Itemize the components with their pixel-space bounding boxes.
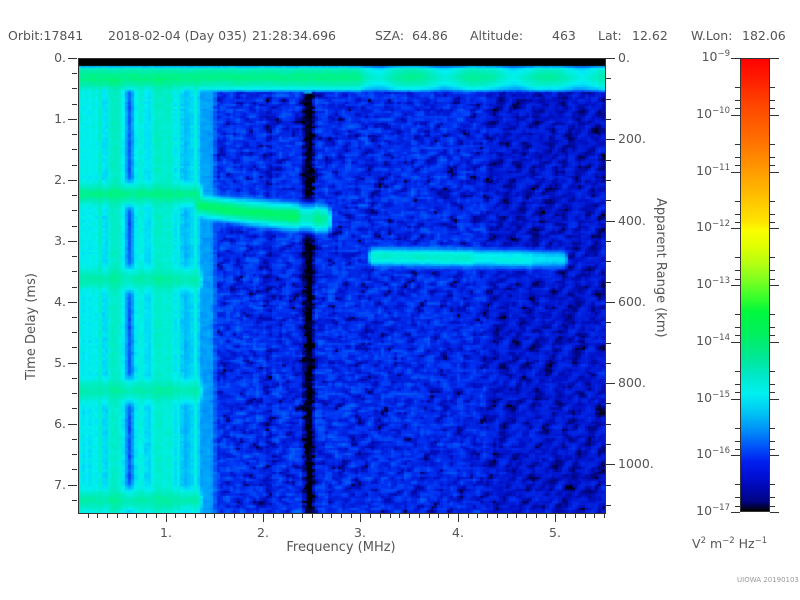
x-tick <box>302 513 303 518</box>
x-tick <box>253 513 254 518</box>
y-left-tick <box>68 58 77 59</box>
x-tick-label: 4. <box>448 525 468 540</box>
observation-time: 21:28:34.696 <box>252 28 336 43</box>
y-left-tick <box>72 454 77 455</box>
x-axis-title: Frequency (MHz) <box>0 540 682 555</box>
observation-date: 2018-02-04 (Day 035) <box>108 28 247 43</box>
colorbar-minor-tick <box>770 214 775 215</box>
x-tick <box>283 513 284 518</box>
x-tick <box>565 513 566 518</box>
colorbar-minor-tick <box>735 497 740 498</box>
x-tick <box>351 513 352 518</box>
colorbar-minor-tick <box>735 506 740 507</box>
y-right-tick <box>606 160 611 161</box>
colorbar-tick <box>731 228 740 229</box>
x-tick <box>409 513 410 518</box>
ionogram-heatmap <box>79 59 605 513</box>
y-left-tick-label: 2. <box>32 172 66 187</box>
x-tick <box>97 513 98 518</box>
y-left-tick-label: 3. <box>32 233 66 248</box>
y-right-tick <box>606 363 611 364</box>
colorbar-tick-label: 10−15 <box>678 390 730 405</box>
colorbar-tick <box>770 285 779 286</box>
y-left-tick <box>72 195 77 196</box>
y-left-tick <box>72 271 77 272</box>
colorbar-tick <box>770 228 779 229</box>
colorbar-tick <box>731 342 740 343</box>
x-tick <box>419 513 420 518</box>
colorbar-tick-label: 10−9 <box>678 49 730 64</box>
colorbar-minor-tick <box>735 428 740 429</box>
y-left-tick <box>72 347 77 348</box>
colorbar-tick-label: 10−11 <box>678 163 730 178</box>
colorbar-minor-tick <box>770 441 775 442</box>
x-tick <box>497 513 498 518</box>
colorbar-tick <box>770 342 779 343</box>
x-tick <box>205 513 206 518</box>
colorbar-minor-tick <box>735 441 740 442</box>
colorbar-minor-tick <box>770 392 775 393</box>
y-right-tick <box>606 241 611 242</box>
colorbar-minor-tick <box>735 327 740 328</box>
y-right-tick <box>606 444 611 445</box>
colorbar-minor-tick <box>735 201 740 202</box>
x-tick <box>526 513 527 518</box>
x-tick <box>156 513 157 518</box>
sza-label: SZA: <box>375 28 404 43</box>
y-left-tick <box>72 408 77 409</box>
colorbar-tick <box>731 58 740 59</box>
y-left-tick-label: 6. <box>32 416 66 431</box>
colorbar-minor-tick <box>770 257 775 258</box>
colorbar-minor-tick <box>770 314 775 315</box>
x-tick <box>195 513 196 518</box>
colorbar-tick <box>731 172 740 173</box>
colorbar-minor-tick <box>735 314 740 315</box>
colorbar-minor-tick <box>735 371 740 372</box>
y-left-tick <box>72 88 77 89</box>
colorbar-units-label: V2 m−2 Hz−1 <box>692 536 767 551</box>
colorbar-minor-tick <box>770 327 775 328</box>
colorbar-tick <box>770 455 779 456</box>
y-left-tick <box>72 469 77 470</box>
y-right-tick <box>606 221 615 222</box>
colorbar-minor-tick <box>735 222 740 223</box>
y-right-tick-label: 200. <box>618 131 674 146</box>
y-left-tick <box>72 287 77 288</box>
x-tick <box>507 513 508 518</box>
colorbar-tick <box>770 58 779 59</box>
x-tick <box>536 513 537 518</box>
y-left-tick <box>72 104 77 105</box>
y-left-tick <box>72 500 77 501</box>
colorbar-tick-label: 10−16 <box>678 446 730 461</box>
x-tick <box>88 513 89 518</box>
colorbar-minor-tick <box>770 428 775 429</box>
y-left-tick <box>72 393 77 394</box>
y-right-tick <box>606 282 611 283</box>
colorbar-minor-tick <box>770 484 775 485</box>
wlon-label: W.Lon: <box>691 28 732 43</box>
altitude-value: 463 <box>552 28 576 43</box>
y-right-tick-label: 800. <box>618 375 674 390</box>
x-tick-label: 3. <box>350 525 370 540</box>
colorbar-tick-label: 10−17 <box>678 503 730 518</box>
x-tick <box>136 513 137 518</box>
colorbar-tick <box>731 115 740 116</box>
y-right-tick <box>606 78 611 79</box>
x-tick <box>234 513 235 518</box>
colorbar-minor-tick <box>735 157 740 158</box>
y-right-tick <box>606 261 611 262</box>
colorbar-minor-tick <box>735 279 740 280</box>
x-tick <box>380 513 381 518</box>
spectrogram-panel <box>78 58 606 514</box>
x-tick <box>214 513 215 518</box>
y-left-tick <box>68 180 77 181</box>
y-right-tick <box>606 322 611 323</box>
y-left-tick-label: 7. <box>32 477 66 492</box>
x-tick <box>175 513 176 518</box>
colorbar-tick <box>770 115 779 116</box>
x-tick <box>341 513 342 518</box>
colorbar-gradient <box>740 58 770 512</box>
x-tick <box>575 513 576 518</box>
colorbar-minor-tick <box>770 335 775 336</box>
x-tick <box>312 513 313 518</box>
lat-value: 12.62 <box>632 28 668 43</box>
y-right-tick <box>606 383 615 384</box>
y-left-tick-label: 1. <box>32 111 66 126</box>
colorbar-minor-tick <box>735 100 740 101</box>
orbit-label: Orbit:17841 <box>8 28 83 43</box>
colorbar-tick <box>770 399 779 400</box>
colorbar-minor-tick <box>735 257 740 258</box>
x-tick <box>127 513 128 518</box>
y-right-tick <box>606 464 615 465</box>
x-tick <box>244 513 245 518</box>
colorbar-tick-label: 10−12 <box>678 219 730 234</box>
y-left-tick <box>72 149 77 150</box>
colorbar-minor-tick <box>735 165 740 166</box>
y-right-tick <box>606 200 611 201</box>
x-tick <box>458 513 459 522</box>
x-tick <box>185 513 186 518</box>
colorbar-minor-tick <box>770 201 775 202</box>
x-tick-label: 5. <box>545 525 565 540</box>
x-tick <box>166 513 167 522</box>
y-left-tick <box>72 73 77 74</box>
y-left-tick-label: 0. <box>32 50 66 65</box>
colorbar-minor-tick <box>735 87 740 88</box>
y-right-tick <box>606 99 611 100</box>
y-left-tick <box>72 256 77 257</box>
y-left-tick <box>68 363 77 364</box>
colorbar-minor-tick <box>770 108 775 109</box>
y-right-tick-label: 1000. <box>618 456 674 471</box>
y-right-tick-label: 0. <box>618 50 674 65</box>
colorbar-minor-tick <box>770 506 775 507</box>
colorbar <box>740 58 770 512</box>
y-right-tick <box>606 424 611 425</box>
colorbar-tick <box>770 512 779 513</box>
colorbar-tick <box>731 285 740 286</box>
x-tick <box>292 513 293 518</box>
y-left-tick <box>72 439 77 440</box>
credit-label: UIOWA 20190103 <box>737 576 799 584</box>
wlon-value: 182.06 <box>742 28 786 43</box>
colorbar-minor-tick <box>770 165 775 166</box>
x-tick-label: 2. <box>253 525 273 540</box>
y-left-tick <box>72 210 77 211</box>
colorbar-minor-tick <box>770 222 775 223</box>
x-tick <box>429 513 430 518</box>
x-tick <box>448 513 449 518</box>
x-tick <box>399 513 400 518</box>
x-tick <box>546 513 547 518</box>
x-tick <box>516 513 517 518</box>
y-left-tick <box>72 332 77 333</box>
y-left-tick <box>68 424 77 425</box>
colorbar-tick-label: 10−14 <box>678 333 730 348</box>
colorbar-minor-tick <box>770 497 775 498</box>
altitude-label: Altitude: <box>470 28 523 43</box>
colorbar-minor-tick <box>770 270 775 271</box>
x-tick <box>360 513 361 522</box>
y-right-tick <box>606 58 615 59</box>
colorbar-minor-tick <box>735 270 740 271</box>
x-tick <box>487 513 488 518</box>
x-tick <box>438 513 439 518</box>
ionogram-figure: Orbit:17841 2018-02-04 (Day 035) 21:28:3… <box>0 0 800 600</box>
y-right-tick <box>606 505 611 506</box>
colorbar-minor-tick <box>770 384 775 385</box>
y-left-tick <box>68 241 77 242</box>
colorbar-minor-tick <box>770 279 775 280</box>
colorbar-tick <box>731 512 740 513</box>
colorbar-minor-tick <box>735 484 740 485</box>
x-tick-label: 1. <box>156 525 176 540</box>
lat-label: Lat: <box>598 28 622 43</box>
y-left-tick <box>72 134 77 135</box>
x-tick <box>370 513 371 518</box>
sza-value: 64.86 <box>412 28 448 43</box>
y-right-tick <box>606 485 611 486</box>
colorbar-minor-tick <box>770 157 775 158</box>
x-tick <box>263 513 264 522</box>
colorbar-tick <box>731 455 740 456</box>
y-axis-title-left: Time Delay (ms) <box>24 273 39 380</box>
x-tick <box>604 513 605 518</box>
colorbar-tick <box>731 399 740 400</box>
y-right-tick <box>606 139 615 140</box>
colorbar-minor-tick <box>735 392 740 393</box>
colorbar-minor-tick <box>770 371 775 372</box>
colorbar-minor-tick <box>770 449 775 450</box>
x-tick <box>146 513 147 518</box>
x-tick <box>468 513 469 518</box>
colorbar-tick <box>770 172 779 173</box>
x-tick <box>322 513 323 518</box>
x-tick <box>585 513 586 518</box>
x-tick <box>224 513 225 518</box>
y-left-tick <box>68 485 77 486</box>
y-right-tick <box>606 302 615 303</box>
x-tick <box>331 513 332 518</box>
y-left-tick <box>72 378 77 379</box>
colorbar-tick-label: 10−13 <box>678 276 730 291</box>
colorbar-minor-tick <box>735 335 740 336</box>
colorbar-minor-tick <box>770 87 775 88</box>
y-axis-title-right: Apparent Range (km) <box>653 198 668 338</box>
y-left-tick <box>72 226 77 227</box>
colorbar-tick-label: 10−10 <box>678 106 730 121</box>
colorbar-minor-tick <box>735 449 740 450</box>
x-tick <box>107 513 108 518</box>
colorbar-minor-tick <box>735 214 740 215</box>
x-tick <box>477 513 478 518</box>
colorbar-minor-tick <box>735 144 740 145</box>
x-tick <box>390 513 391 518</box>
colorbar-minor-tick <box>735 108 740 109</box>
colorbar-minor-tick <box>770 100 775 101</box>
header-metadata: Orbit:17841 2018-02-04 (Day 035) 21:28:3… <box>0 28 800 48</box>
y-left-tick <box>72 165 77 166</box>
colorbar-minor-tick <box>735 384 740 385</box>
y-right-tick <box>606 119 611 120</box>
x-tick <box>594 513 595 518</box>
x-tick <box>273 513 274 518</box>
y-right-tick <box>606 403 611 404</box>
y-right-tick <box>606 343 611 344</box>
x-tick <box>117 513 118 518</box>
y-left-tick <box>68 302 77 303</box>
x-tick <box>555 513 556 522</box>
y-left-tick <box>72 317 77 318</box>
y-left-tick <box>68 119 77 120</box>
y-right-tick <box>606 180 611 181</box>
colorbar-minor-tick <box>770 144 775 145</box>
